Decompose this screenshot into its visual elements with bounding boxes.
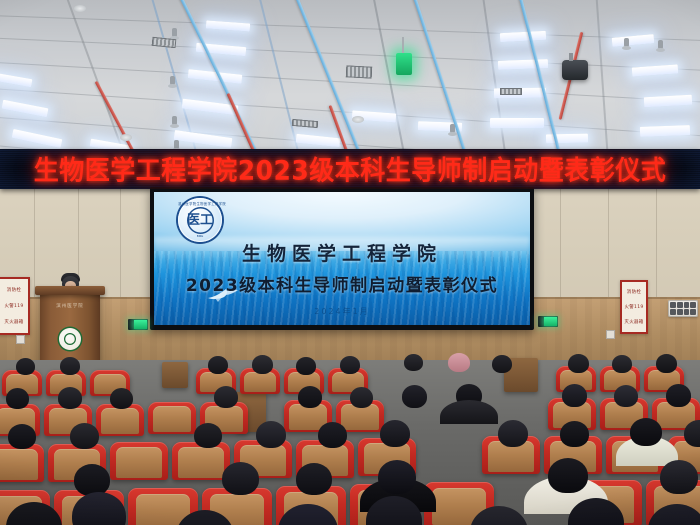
audience-head (448, 353, 470, 372)
audience-head (256, 421, 286, 448)
fire-sign-line: 灭火器箱 (624, 319, 643, 325)
audience-head (6, 388, 29, 409)
audience-head (568, 354, 589, 373)
audience-head (252, 355, 273, 374)
audience-head (16, 358, 35, 375)
audience-head (630, 418, 662, 446)
audience-head (612, 355, 632, 373)
audience-head (660, 460, 698, 494)
fire-sign-line: 火警119 (624, 304, 643, 310)
audience-head (614, 385, 638, 407)
audience-head (666, 384, 691, 407)
seat[interactable] (0, 444, 44, 482)
sprinkler-icon (172, 116, 177, 125)
audience-head (318, 422, 347, 448)
emergency-exit-sign-right (538, 316, 558, 327)
smoke-detector-icon (74, 5, 86, 12)
college-emblem: 滨州医学院生物医学工程学院 医工 BME (178, 198, 222, 242)
auditorium-photo: 生物医学工程学院2023级本科生导师制启动暨表彰仪式 滨州医学院生物医学工程学院… (0, 0, 700, 525)
slide-subtitle: 2023级本科生导师制启动暨表彰仪式 (154, 271, 530, 296)
audience-head (222, 462, 259, 495)
led-banner-text: 生物医学工程学院2023级本科生导师制启动暨表彰仪式 (34, 150, 667, 188)
emblem-sub-text: BME (178, 234, 222, 238)
audience-head (562, 384, 587, 407)
air-vent-icon (500, 88, 522, 95)
seat[interactable] (148, 402, 196, 434)
audience-head (296, 357, 316, 375)
audience-head (340, 356, 360, 374)
sprinkler-icon (172, 28, 177, 37)
fire-sign-line: 消防栓 (7, 287, 21, 293)
led-banner: 生物医学工程学院2023级本科生导师制启动暨表彰仪式 (0, 149, 700, 189)
emblem-ring-text: 滨州医学院生物医学工程学院 (178, 201, 222, 206)
podium-logo (59, 328, 81, 350)
audience-head (8, 424, 36, 449)
audience-head (492, 355, 512, 373)
sprinkler-icon (450, 124, 455, 133)
smoke-detector-icon (120, 134, 132, 141)
sprinkler-icon (624, 38, 629, 47)
slide-title: 生物医学工程学院 (154, 239, 530, 266)
audience-head (214, 386, 238, 408)
audience-head (110, 388, 133, 409)
air-vent-icon (346, 65, 373, 78)
ceiling-exit-sign-icon (396, 53, 412, 75)
fire-safety-sign-left: 消防栓 火警119 灭火器箱 (0, 277, 30, 335)
slide-date: 2024年1月 (154, 306, 530, 317)
audience-head (498, 420, 528, 447)
projector-icon (562, 60, 588, 80)
audience-head (60, 357, 80, 375)
fire-sign-line: 消防栓 (627, 289, 641, 295)
audience-head (350, 387, 373, 408)
auditorium-floor (0, 360, 700, 525)
audience-head (684, 420, 700, 447)
podium-top (35, 286, 105, 295)
audience-head (402, 385, 427, 408)
audience-head (194, 423, 222, 448)
air-vent-icon (292, 119, 319, 128)
fire-safety-sign-right: 消防栓 火警119 灭火器箱 (620, 280, 648, 334)
audience-head (380, 420, 410, 447)
audience-head (298, 386, 322, 408)
fire-sign-line: 火警119 (4, 303, 23, 309)
light-switch-panel[interactable] (668, 300, 698, 317)
emergency-exit-sign-left (128, 319, 148, 330)
seat[interactable] (110, 442, 168, 480)
audience-shoulders (440, 400, 498, 424)
audience-head (70, 423, 99, 449)
slide: 滨州医学院生物医学工程学院 医工 BME 生物医学工程学院 2023级本科生导师… (154, 192, 530, 325)
air-vent-icon (152, 37, 177, 48)
audience-head (560, 421, 589, 447)
audience-head (74, 464, 110, 496)
sprinkler-icon (170, 76, 175, 85)
audience-head (58, 387, 82, 409)
audience-head (548, 458, 588, 493)
fire-sign-line: 灭火器箱 (4, 319, 23, 325)
audience-head (378, 460, 416, 494)
emblem-monogram: 医工 (187, 207, 214, 234)
sprinkler-icon (174, 140, 179, 149)
sprinkler-icon (658, 40, 663, 49)
projection-screen: 滨州医学院生物医学工程学院 医工 BME 生物医学工程学院 2023级本科生导师… (150, 187, 534, 330)
audience-head (404, 354, 423, 371)
audience-head (296, 463, 332, 495)
audience-head (656, 354, 677, 373)
aisle-rail (162, 362, 188, 388)
audience-head (208, 356, 228, 374)
wall-outlet (16, 335, 25, 344)
wall-outlet (606, 330, 615, 339)
ceiling (0, 0, 700, 160)
seat[interactable] (172, 442, 230, 480)
smoke-detector-icon (352, 116, 364, 123)
podium-name-plate: 滨州医学院 (40, 303, 100, 309)
